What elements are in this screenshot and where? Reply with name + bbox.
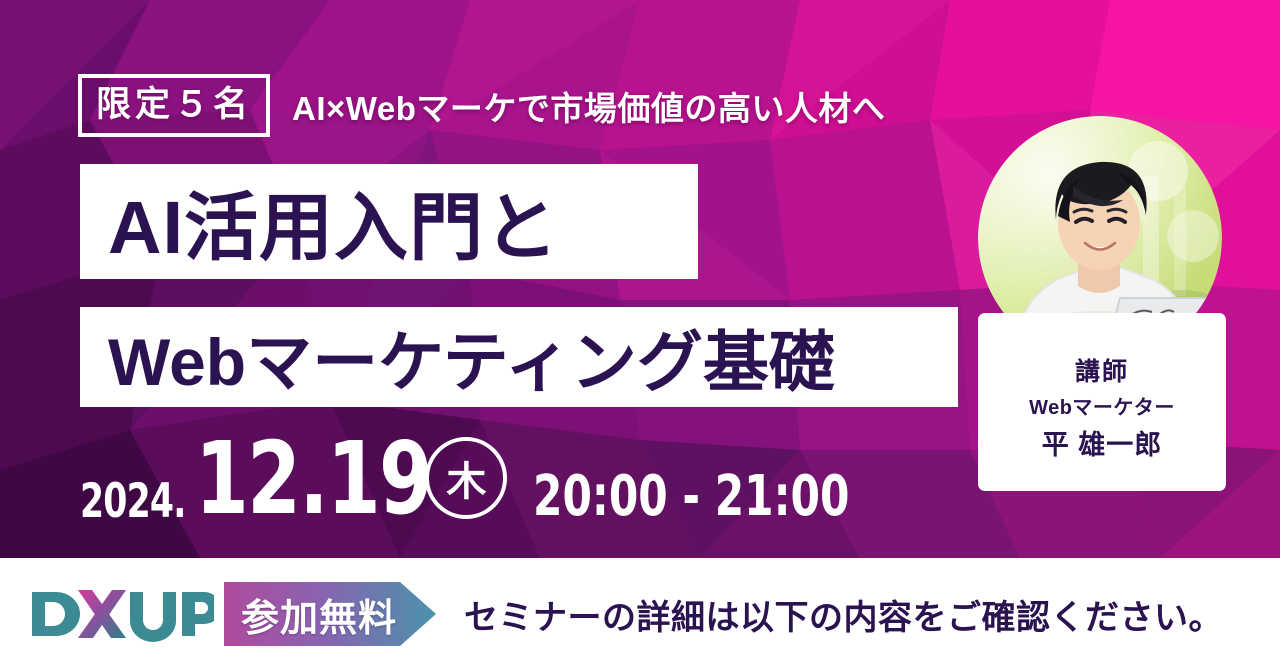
speaker-job-title: Webマーケター <box>1029 398 1175 418</box>
speaker-role-label: 講師 <box>1075 360 1129 385</box>
tagline: AI×Webマーケで市場価値の高い人材へ <box>292 82 885 130</box>
headline-line-2: Webマーケティング基礎 <box>80 307 958 407</box>
schedule-year: 2024. <box>80 480 186 525</box>
schedule-time: 20:00 - 21:00 <box>533 470 849 523</box>
schedule-day-of-week: 木 <box>425 437 507 519</box>
speaker-name: 平 雄一郎 <box>1042 432 1163 459</box>
schedule-row: 2024. 12.19 木 20:00 - 21:00 <box>80 425 910 525</box>
limit-badge: 限定５名 <box>78 74 270 137</box>
eyebrow-row: 限定５名 AI×Webマーケで市場価値の高い人材へ <box>78 74 885 137</box>
schedule-date: 12.19 <box>195 433 431 525</box>
free-entry-label: 参加無料 <box>241 587 397 642</box>
speaker-card: 講師 Webマーケター 平 雄一郎 <box>978 313 1226 491</box>
headline-line-1: AI活用入門と <box>80 164 698 279</box>
cta-text: セミナーの詳細は以下の内容をご確認ください。 <box>464 590 1223 639</box>
footer-bar: 参加無料 セミナーの詳細は以下の内容をご確認ください。 <box>0 558 1280 670</box>
seminar-banner: 限定５名 AI×Webマーケで市場価値の高い人材へ AI活用入門と Webマーケ… <box>0 0 1280 670</box>
free-entry-badge: 参加無料 <box>224 582 436 646</box>
dxup-logo[interactable] <box>26 584 214 644</box>
